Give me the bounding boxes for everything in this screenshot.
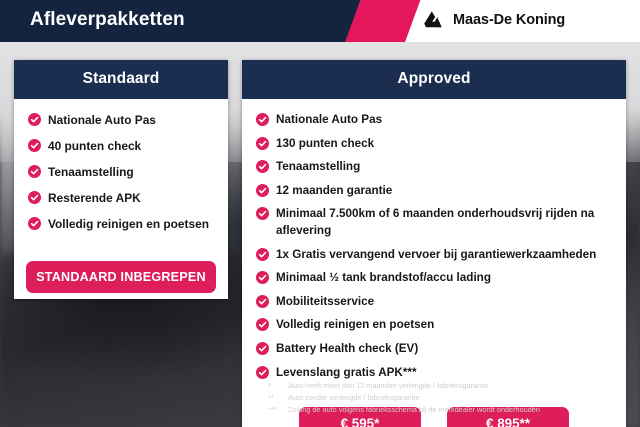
feature-label: Levenslang gratis APK*** (276, 365, 417, 382)
check-circle-icon (256, 271, 269, 284)
feature-label: Volledig reinigen en poetsen (48, 216, 209, 233)
footnote-double-asterisk: ** Auto zonder verlengde / fabrieksgaran… (268, 392, 634, 404)
list-item: Battery Health check (EV) (256, 341, 612, 358)
feature-label: Tenaamstelling (48, 164, 134, 181)
footnote-triple-asterisk: *** Zolang de auto volgens fabrieksschem… (268, 404, 634, 416)
footnotes: * Auto heeft meer dan 12 maanden verleng… (268, 380, 634, 415)
card-approved-title: Approved (242, 60, 626, 99)
list-item: 40 punten check (28, 138, 214, 155)
check-circle-icon (256, 137, 269, 150)
feature-label: Nationale Auto Pas (276, 112, 382, 129)
footnote-marker: * (268, 380, 282, 392)
feature-label: Minimaal 7.500km of 6 maanden onderhouds… (276, 206, 612, 239)
check-circle-icon (256, 366, 269, 379)
list-item: 130 punten check (256, 136, 612, 153)
feature-list-standard: Nationale Auto Pas 40 punten check Tenaa… (28, 112, 214, 233)
brand-name: Maas-De Koning (453, 12, 565, 28)
check-circle-icon (28, 217, 41, 230)
check-circle-icon (28, 165, 41, 178)
list-item: Mobiliteitsservice (256, 294, 612, 311)
check-circle-icon (256, 184, 269, 197)
card-standard: Standaard Nationale Auto Pas 40 punten c… (14, 60, 228, 299)
feature-label: Battery Health check (EV) (276, 341, 418, 358)
list-item: 1x Gratis vervangend vervoer bij garanti… (256, 247, 612, 264)
card-approved: Approved Nationale Auto Pas 130 punten c… (242, 60, 626, 427)
card-standard-body: Nationale Auto Pas 40 punten check Tenaa… (14, 99, 228, 245)
check-circle-icon (28, 113, 41, 126)
page-title: Afleverpakketten (30, 9, 185, 31)
feature-label: 12 maanden garantie (276, 183, 392, 200)
check-circle-icon (256, 113, 269, 126)
list-item: Tenaamstelling (256, 159, 612, 176)
feature-label: Resterende APK (48, 190, 141, 207)
feature-list-approved: Nationale Auto Pas 130 punten check Tena… (256, 112, 612, 381)
footnote-single-asterisk: * Auto heeft meer dan 12 maanden verleng… (268, 380, 634, 392)
card-approved-body: Nationale Auto Pas 130 punten check Tena… (242, 99, 626, 393)
list-item: Nationale Auto Pas (256, 112, 612, 129)
list-item: Volledig reinigen en poetsen (28, 216, 214, 233)
brand-logo: Maas-De Koning (424, 11, 565, 28)
check-circle-icon (256, 207, 269, 220)
feature-label: Volledig reinigen en poetsen (276, 317, 434, 334)
list-item: Levenslang gratis APK*** (256, 365, 612, 382)
feature-label: Minimaal ½ tank brandstof/accu lading (276, 270, 491, 287)
feature-label: Mobiliteitsservice (276, 294, 374, 311)
feature-label: 1x Gratis vervangend vervoer bij garanti… (276, 247, 596, 264)
standard-cta-wrapper: STANDAARD INBEGREPEN (14, 245, 228, 299)
feature-label: Tenaamstelling (276, 159, 360, 176)
check-circle-icon (256, 160, 269, 173)
check-circle-icon (256, 342, 269, 355)
check-circle-icon (256, 248, 269, 261)
top-bar: Afleverpakketten Maas-De Koning (0, 0, 640, 42)
list-item: Volledig reinigen en poetsen (256, 317, 612, 334)
footnote-text: Auto zonder verlengde / fabrieksgarantie (288, 392, 419, 404)
list-item: Nationale Auto Pas (28, 112, 214, 129)
feature-label: 130 punten check (276, 136, 374, 153)
footnote-text: Zolang de auto volgens fabrieksschema bi… (288, 404, 540, 416)
check-circle-icon (256, 295, 269, 308)
list-item: Minimaal ½ tank brandstof/accu lading (256, 270, 612, 287)
feature-label: Nationale Auto Pas (48, 112, 156, 129)
maas-de-koning-m-icon (424, 11, 446, 28)
list-item: Minimaal 7.500km of 6 maanden onderhouds… (256, 206, 612, 239)
check-circle-icon (256, 318, 269, 331)
check-circle-icon (28, 191, 41, 204)
card-standard-title: Standaard (14, 60, 228, 99)
footnote-text: Auto heeft meer dan 12 maanden verlengde… (288, 380, 489, 392)
footnote-marker: ** (268, 392, 282, 404)
slide-root: Afleverpakketten Maas-De Koning Standaar… (0, 0, 640, 427)
check-circle-icon (28, 139, 41, 152)
footnote-marker: *** (268, 404, 282, 416)
list-item: Tenaamstelling (28, 164, 214, 181)
feature-label: 40 punten check (48, 138, 141, 155)
list-item: 12 maanden garantie (256, 183, 612, 200)
standard-included-button[interactable]: STANDAARD INBEGREPEN (26, 261, 216, 293)
list-item: Resterende APK (28, 190, 214, 207)
